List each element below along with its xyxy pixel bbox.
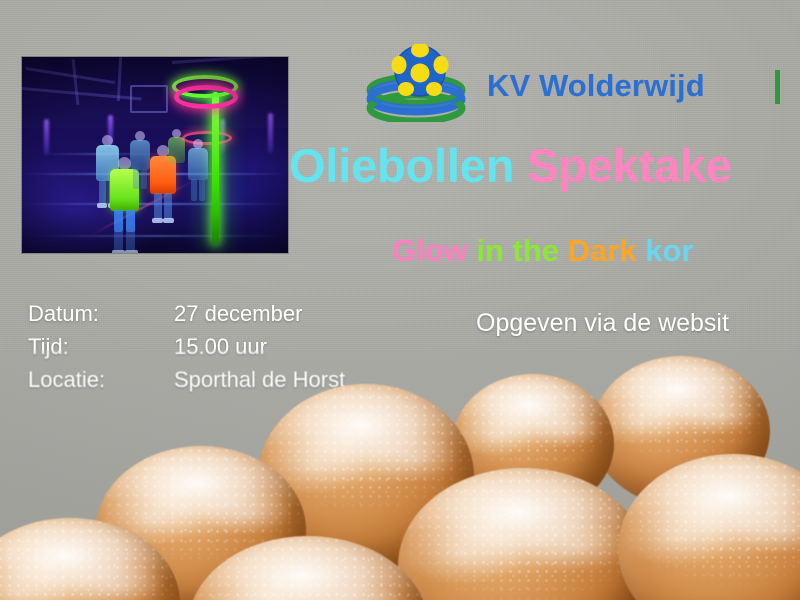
kv-wolderwijd-korfball-logo [364, 44, 476, 122]
poster-subtitle: Glow in the Dark kor [392, 233, 693, 269]
oliebollen-photo [0, 350, 800, 600]
basketball-backboard [130, 85, 168, 113]
court-line [32, 235, 282, 237]
subtitle-word-in-the: in the [476, 233, 567, 268]
brand-divider-bar [775, 70, 780, 104]
wall-uv-light [268, 113, 273, 153]
wall-uv-light [44, 119, 49, 155]
subtitle-word-glow: Glow [392, 233, 476, 268]
brand-name: KV Wolderwijd [487, 68, 705, 104]
page-title: Oliebollen Spektake [289, 138, 732, 193]
headline-part-2: Spektake [527, 139, 732, 192]
detail-row-datum: Datum: 27 december [28, 297, 345, 330]
detail-value-datum: 27 december [174, 297, 302, 330]
glow-in-the-dark-korfball-photo [22, 57, 288, 253]
detail-label-datum: Datum: [28, 297, 174, 330]
event-poster: KV Wolderwijd Oliebollen Spektake Glow i… [0, 0, 800, 600]
korf-pole [212, 92, 219, 244]
subtitle-word-dark: Dark [568, 233, 646, 268]
logo-ball [392, 44, 449, 96]
subtitle-word-korfbal: kor [645, 233, 693, 268]
distant-korf-hoop [182, 131, 232, 145]
headline-part-1: Oliebollen [289, 139, 527, 192]
korf-hoop-pink [174, 85, 238, 109]
signup-instruction: Opgeven via de websit [476, 309, 729, 338]
